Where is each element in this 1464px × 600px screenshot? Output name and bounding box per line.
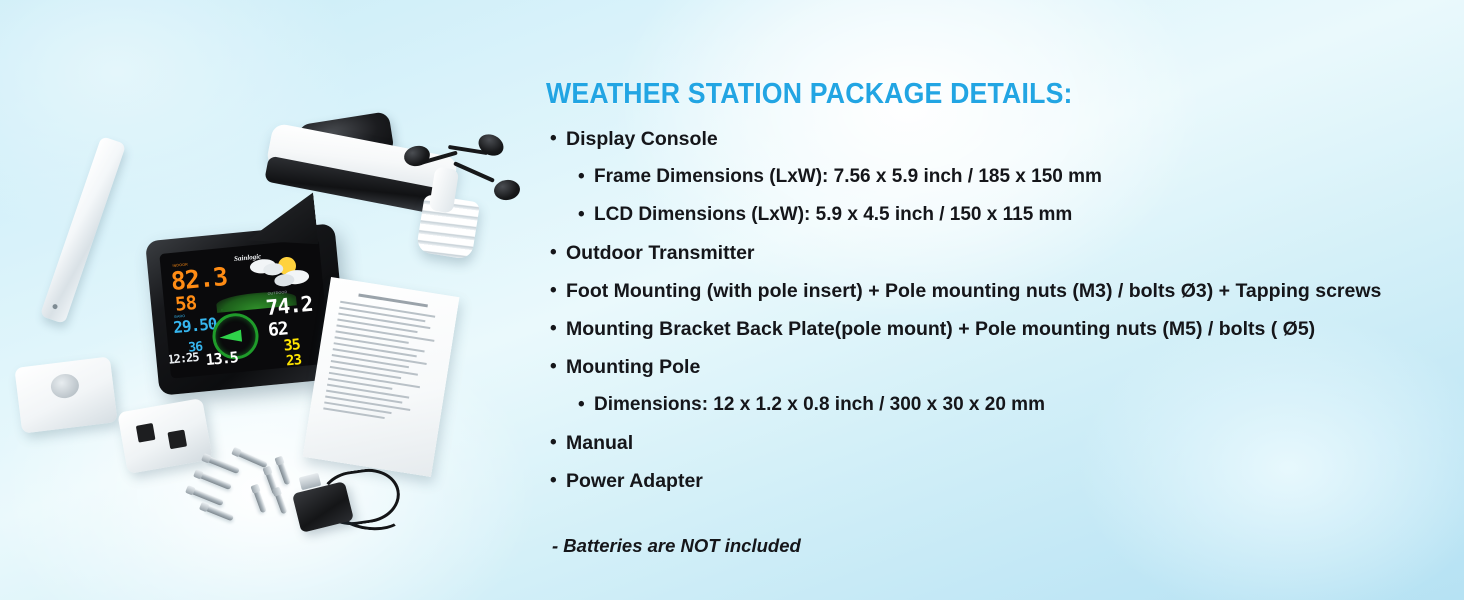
back-plate-bracket xyxy=(117,398,212,474)
tapping-screw xyxy=(253,489,267,514)
bolt xyxy=(204,505,234,522)
list-item: Power Adapter xyxy=(546,462,1464,500)
lcd-pressure: 29.50 xyxy=(173,316,218,336)
list-item: Dimensions: 12 x 1.2 x 0.8 inch / 300 x … xyxy=(546,386,1464,424)
bolt xyxy=(206,456,240,474)
page-title: WEATHER STATION PACKAGE DETAILS: xyxy=(546,78,1391,111)
list-item: Outdoor Transmitter xyxy=(546,234,1464,272)
package-details-list: Display Console Frame Dimensions (LxW): … xyxy=(546,120,1464,500)
anemometer-cup xyxy=(475,130,507,159)
lcd-indoor-humidity: 58 xyxy=(174,294,197,315)
list-item: Display Console xyxy=(546,120,1464,158)
anemometer-cup xyxy=(493,178,522,201)
list-item: Frame Dimensions (LxW): 7.56 x 5.9 inch … xyxy=(546,158,1464,196)
tapping-screw xyxy=(277,461,291,486)
list-item: Mounting Pole xyxy=(546,348,1464,386)
mounting-pole xyxy=(40,136,126,324)
list-item: Foot Mounting (with pole insert) + Pole … xyxy=(546,272,1464,310)
list-item: LCD Dimensions (LxW): 5.9 x 4.5 inch / 1… xyxy=(546,196,1464,234)
compass-needle xyxy=(219,330,242,344)
bracket-pad xyxy=(167,430,187,450)
details-panel: WEATHER STATION PACKAGE DETAILS: Display… xyxy=(546,78,1464,500)
list-item: Mounting Bracket Back Plate(pole mount) … xyxy=(546,310,1464,348)
infographic-canvas: Sainlogic INDOOR 82.3 58 BARO 29.50 36 1… xyxy=(0,0,1464,600)
list-item: Manual xyxy=(546,424,1464,462)
anemometer-spoke xyxy=(453,161,495,183)
bracket-pad xyxy=(136,423,156,443)
weather-forecast-icon xyxy=(242,250,316,297)
tapping-screw xyxy=(274,492,287,515)
user-manual xyxy=(303,277,460,477)
lcd-wind-gust: 35 xyxy=(283,337,300,353)
lcd-screen: Sainlogic INDOOR 82.3 58 BARO 29.50 36 1… xyxy=(159,239,330,379)
lcd-time: 12:25 xyxy=(167,351,199,366)
batteries-disclaimer: - Batteries are NOT included xyxy=(552,535,801,557)
foot-mounting-bracket xyxy=(14,356,117,433)
lcd-indoor-temp: 82.3 xyxy=(170,264,228,294)
bolt xyxy=(236,450,268,468)
lcd-uv-index: 23 xyxy=(285,353,301,368)
lcd-outdoor-temp: 74.2 xyxy=(265,294,313,319)
bolt xyxy=(198,472,232,490)
lcd-wind-speed: 13.5 xyxy=(205,350,238,368)
